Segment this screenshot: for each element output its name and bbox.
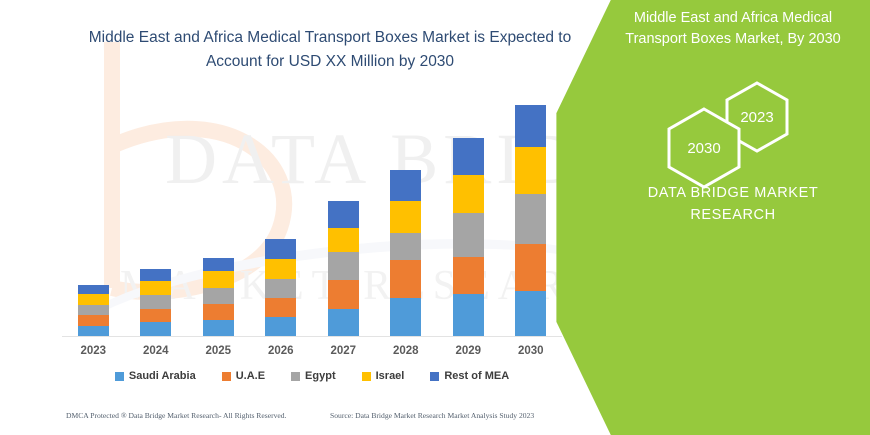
bar-segment — [140, 322, 171, 336]
footer-source: Source: Data Bridge Market Research Mark… — [330, 411, 534, 420]
legend-item[interactable]: Rest of MEA — [430, 370, 509, 382]
bar-segment — [328, 228, 359, 252]
bar-segment — [203, 271, 234, 288]
legend-item[interactable]: U.A.E — [222, 370, 265, 382]
bar-segment — [515, 147, 546, 194]
bar-segment — [140, 269, 171, 280]
legend-item[interactable]: Israel — [362, 370, 405, 382]
panel-brand-text: DATA BRIDGE MARKET RESEARCH — [610, 182, 856, 226]
legend-swatch-icon — [291, 372, 300, 381]
bar-segment — [78, 294, 109, 304]
bar-segment — [515, 244, 546, 291]
bar-segment — [265, 239, 296, 259]
bar-2023 — [78, 285, 109, 336]
footer-copyright: DMCA Protected ® Data Bridge Market Rese… — [66, 411, 286, 420]
x-axis-labels: 20232024202520262027202820292030 — [62, 341, 562, 361]
bar-segment — [265, 317, 296, 336]
bar-segment — [203, 304, 234, 321]
x-axis-line — [62, 336, 562, 337]
bar-segment — [390, 201, 421, 232]
hexagon-2023-label: 2023 — [740, 109, 773, 126]
bar-2025 — [203, 258, 234, 336]
legend-swatch-icon — [430, 372, 439, 381]
bar-segment — [453, 257, 484, 295]
legend-item[interactable]: Saudi Arabia — [115, 370, 196, 382]
bar-segment — [140, 281, 171, 296]
bar-segment — [78, 315, 109, 325]
bar-segment — [203, 258, 234, 272]
bar-segment — [390, 170, 421, 201]
hexagon-2030-label: 2030 — [687, 140, 720, 157]
x-axis-tick-2023: 2023 — [65, 345, 121, 357]
bar-segment — [515, 105, 546, 147]
bar-segment — [265, 298, 296, 317]
bar-segment — [328, 201, 359, 227]
legend-item[interactable]: Egypt — [291, 370, 336, 382]
legend-label: Rest of MEA — [444, 370, 509, 382]
legend-label: U.A.E — [236, 370, 265, 382]
bar-segment — [453, 175, 484, 213]
legend-swatch-icon — [362, 372, 371, 381]
hexagon-group: 2023 2030 — [610, 80, 856, 190]
legend-swatch-icon — [222, 372, 231, 381]
chart-legend: Saudi ArabiaU.A.EEgyptIsraelRest of MEA — [62, 370, 562, 382]
x-axis-tick-2025: 2025 — [190, 345, 246, 357]
bar-2027 — [328, 201, 359, 336]
bar-2024 — [140, 269, 171, 336]
bar-segment — [78, 305, 109, 315]
bar-segment — [78, 326, 109, 336]
page-title: Middle East and Africa Medical Transport… — [70, 26, 590, 74]
bar-segment — [390, 260, 421, 299]
x-axis-tick-2027: 2027 — [315, 345, 371, 357]
infographic-root: DATA BRIDGE MARKET RESEARCH Middle East … — [0, 0, 870, 435]
bar-segment — [453, 213, 484, 257]
x-axis-tick-2028: 2028 — [378, 345, 434, 357]
bar-segment — [515, 291, 546, 336]
bar-2028 — [390, 170, 421, 336]
hexagon-2030: 2030 — [666, 106, 742, 190]
legend-swatch-icon — [115, 372, 124, 381]
bar-segment — [390, 298, 421, 336]
bar-2029 — [453, 138, 484, 336]
chart-plot-area — [62, 96, 562, 336]
legend-label: Egypt — [305, 370, 336, 382]
x-axis-tick-2024: 2024 — [128, 345, 184, 357]
bar-segment — [265, 259, 296, 279]
bar-segment — [328, 280, 359, 309]
bar-2026 — [265, 239, 296, 336]
bar-segment — [390, 233, 421, 260]
bar-segment — [140, 295, 171, 309]
bar-segment — [203, 320, 234, 336]
panel-title: Middle East and Africa Medical Transport… — [610, 8, 856, 50]
bar-segment — [78, 285, 109, 294]
legend-label: Israel — [376, 370, 405, 382]
legend-label: Saudi Arabia — [129, 370, 196, 382]
bar-segment — [203, 288, 234, 304]
bar-segment — [453, 294, 484, 336]
bar-segment — [328, 309, 359, 336]
x-axis-tick-2029: 2029 — [440, 345, 496, 357]
bar-segment — [328, 252, 359, 280]
bar-segment — [515, 194, 546, 244]
x-axis-tick-2026: 2026 — [253, 345, 309, 357]
bar-segment — [265, 279, 296, 299]
bar-segment — [453, 138, 484, 176]
bar-segment — [140, 309, 171, 323]
bar-2030 — [515, 105, 546, 336]
stacked-bar-chart — [62, 96, 562, 336]
footer: DMCA Protected ® Data Bridge Market Rese… — [0, 405, 620, 425]
green-side-panel-content: Middle East and Africa Medical Transport… — [550, 0, 870, 435]
